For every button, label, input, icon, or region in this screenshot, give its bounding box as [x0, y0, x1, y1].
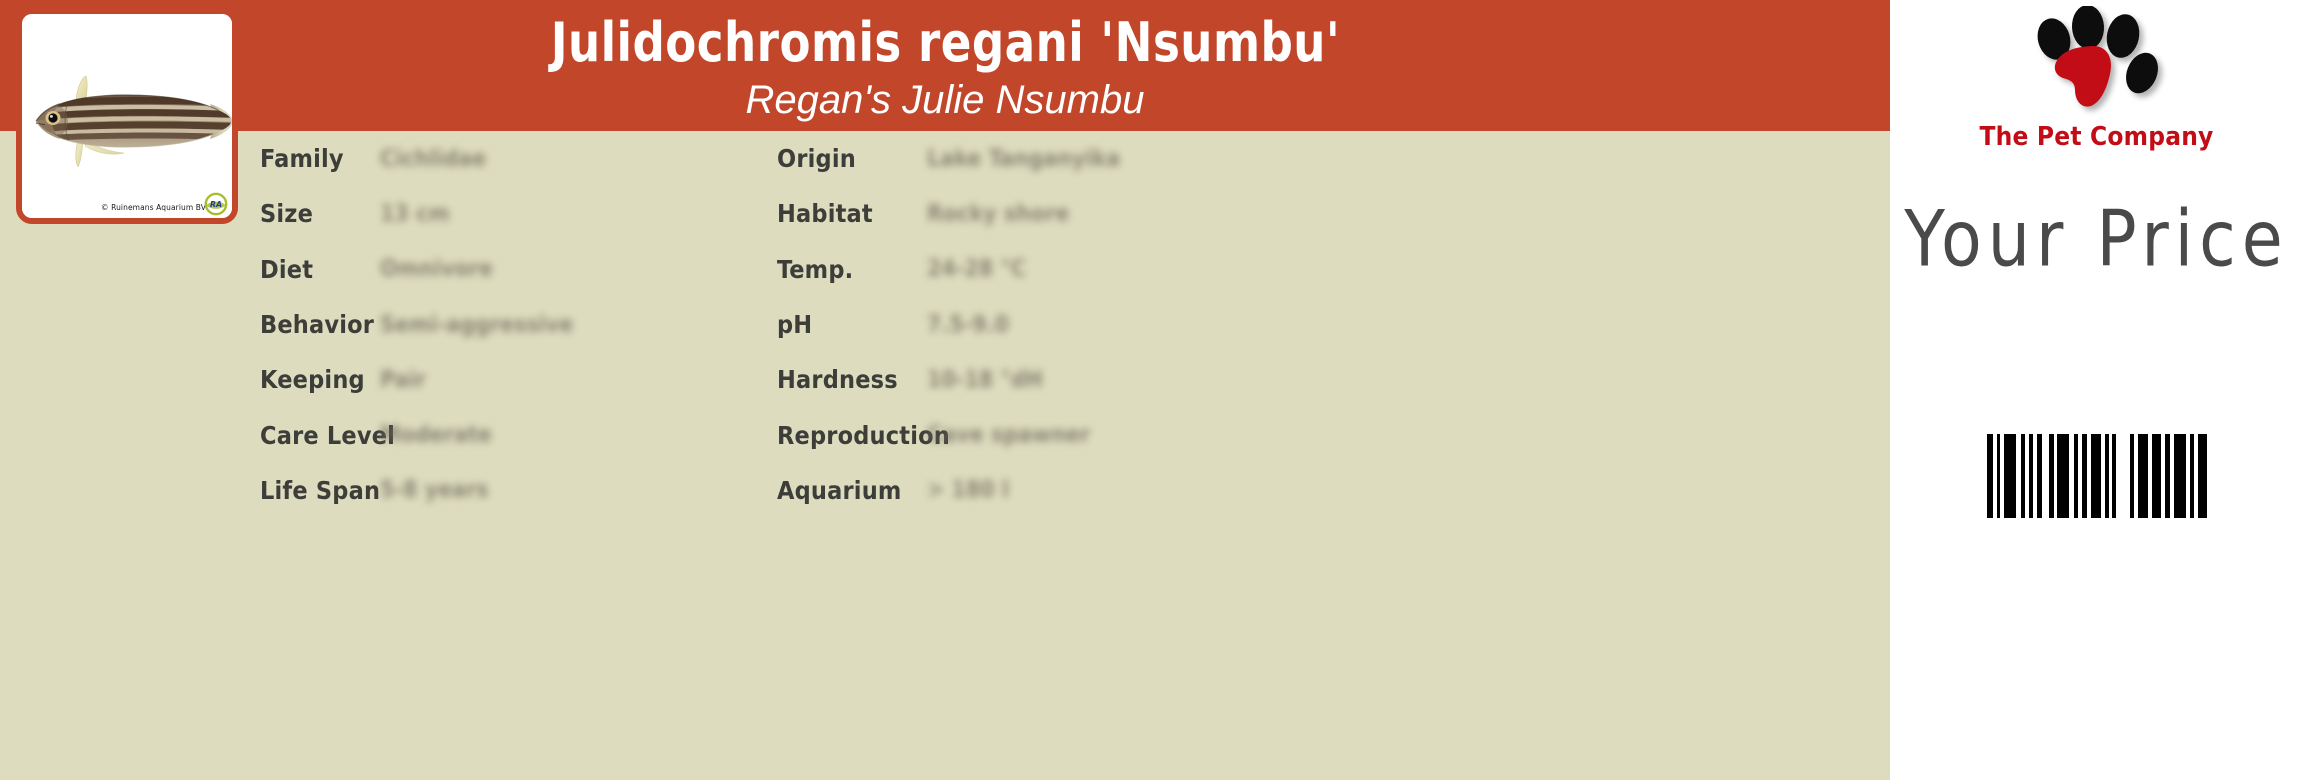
- header-band: Julidochromis regani 'Nsumbu' Regan's Ju…: [0, 0, 1890, 131]
- barcode-bar: [2152, 434, 2161, 518]
- spec-label-family: Family: [260, 144, 380, 173]
- spec-row: Family Cichlidae: [260, 131, 760, 186]
- spec-label-origin: Origin: [777, 144, 927, 173]
- spec-row: Life Span 5-8 years: [260, 463, 760, 518]
- spec-value-family: Cichlidae: [380, 146, 486, 172]
- spec-value-temp: 24-28 °C: [927, 256, 1026, 282]
- barcode-bar: [2091, 434, 2101, 518]
- spec-row: Diet Omnivore: [260, 242, 760, 297]
- fish-info-price-card: Julidochromis regani 'Nsumbu' Regan's Ju…: [0, 0, 2303, 780]
- page-title: Julidochromis regani 'Nsumbu': [550, 16, 1340, 70]
- fish-photo: © Ruinemans Aquarium BV RA: [22, 14, 232, 218]
- spec-row: Hardness 10-18 °dH: [777, 352, 1337, 407]
- fish-image: [28, 66, 236, 176]
- spec-value-keeping: Pair: [380, 367, 426, 393]
- spec-table: Family Cichlidae Size 13 cm Diet Omnivor…: [0, 131, 1890, 780]
- barcode-bar: [2004, 434, 2016, 518]
- spec-value-ph: 7.5-9.0: [927, 312, 1009, 338]
- spec-row: Reproduction Cave spawner: [777, 407, 1337, 462]
- spec-label-habitat: Habitat: [777, 199, 927, 228]
- spec-label-reproduction: Reproduction: [777, 421, 927, 450]
- barcode-gap: [2116, 434, 2130, 518]
- spec-label-ph: pH: [777, 310, 927, 339]
- spec-label-care-level: Care Level: [260, 421, 380, 450]
- spec-row: pH 7.5-9.0: [777, 297, 1337, 352]
- spec-row: Temp. 24-28 °C: [777, 242, 1337, 297]
- spec-value-behavior: Semi-aggressive: [380, 312, 573, 338]
- spec-label-diet: Diet: [260, 255, 380, 284]
- barcode-bar: [2174, 434, 2186, 518]
- svg-text:RA: RA: [210, 200, 222, 209]
- fish-photo-card: © Ruinemans Aquarium BV RA: [16, 8, 238, 224]
- spec-row: Keeping Pair: [260, 352, 760, 407]
- spec-label-life-span: Life Span: [260, 476, 380, 505]
- spec-row: Habitat Rocky shore: [777, 186, 1337, 241]
- spec-value-size: 13 cm: [380, 201, 450, 227]
- spec-label-hardness: Hardness: [777, 365, 927, 394]
- spec-value-hardness: 10-18 °dH: [927, 367, 1043, 393]
- spec-row: Aquarium > 180 l: [777, 463, 1337, 518]
- brand-name: The Pet Company: [1980, 122, 2214, 152]
- main-body: Julidochromis regani 'Nsumbu' Regan's Ju…: [0, 0, 1890, 780]
- spec-row: Size 13 cm: [260, 186, 760, 241]
- spec-label-temp: Temp.: [777, 255, 927, 284]
- your-price-label: Your Price: [1890, 194, 2303, 284]
- spec-value-life-span: 5-8 years: [380, 477, 489, 503]
- spec-row: Care Level Moderate: [260, 407, 760, 462]
- spec-column-left: Family Cichlidae Size 13 cm Diet Omnivor…: [260, 131, 760, 518]
- spec-label-aquarium: Aquarium: [777, 476, 927, 505]
- spec-value-aquarium: > 180 l: [927, 477, 1009, 503]
- page-subtitle: Regan's Julie Nsumbu: [746, 80, 1145, 120]
- spec-column-right: Origin Lake Tanganyika Habitat Rocky sho…: [777, 131, 1337, 518]
- paw-print-icon: [2022, 6, 2172, 124]
- product-barcode: [1890, 434, 2303, 518]
- ruinemans-aquarium-logo-icon: RA: [204, 192, 228, 216]
- right-panel: The Pet Company Your Price: [1890, 0, 2303, 780]
- barcode-gap: [2042, 434, 2049, 518]
- spec-value-habitat: Rocky shore: [927, 201, 1069, 227]
- spec-row: Behavior Semi-aggressive: [260, 297, 760, 352]
- spec-value-diet: Omnivore: [380, 256, 493, 282]
- barcode-bar: [2138, 434, 2148, 518]
- spec-label-size: Size: [260, 199, 380, 228]
- spec-value-care-level: Moderate: [380, 422, 492, 448]
- barcode-bar: [2198, 434, 2207, 518]
- spec-value-origin: Lake Tanganyika: [927, 146, 1120, 172]
- spec-label-keeping: Keeping: [260, 365, 380, 394]
- brand-logo: The Pet Company: [1890, 6, 2303, 166]
- spec-label-behavior: Behavior: [260, 310, 380, 339]
- spec-row: Origin Lake Tanganyika: [777, 131, 1337, 186]
- photo-credit: © Ruinemans Aquarium BV: [22, 203, 206, 212]
- spec-value-reproduction: Cave spawner: [927, 422, 1090, 448]
- barcode-bar: [2057, 434, 2069, 518]
